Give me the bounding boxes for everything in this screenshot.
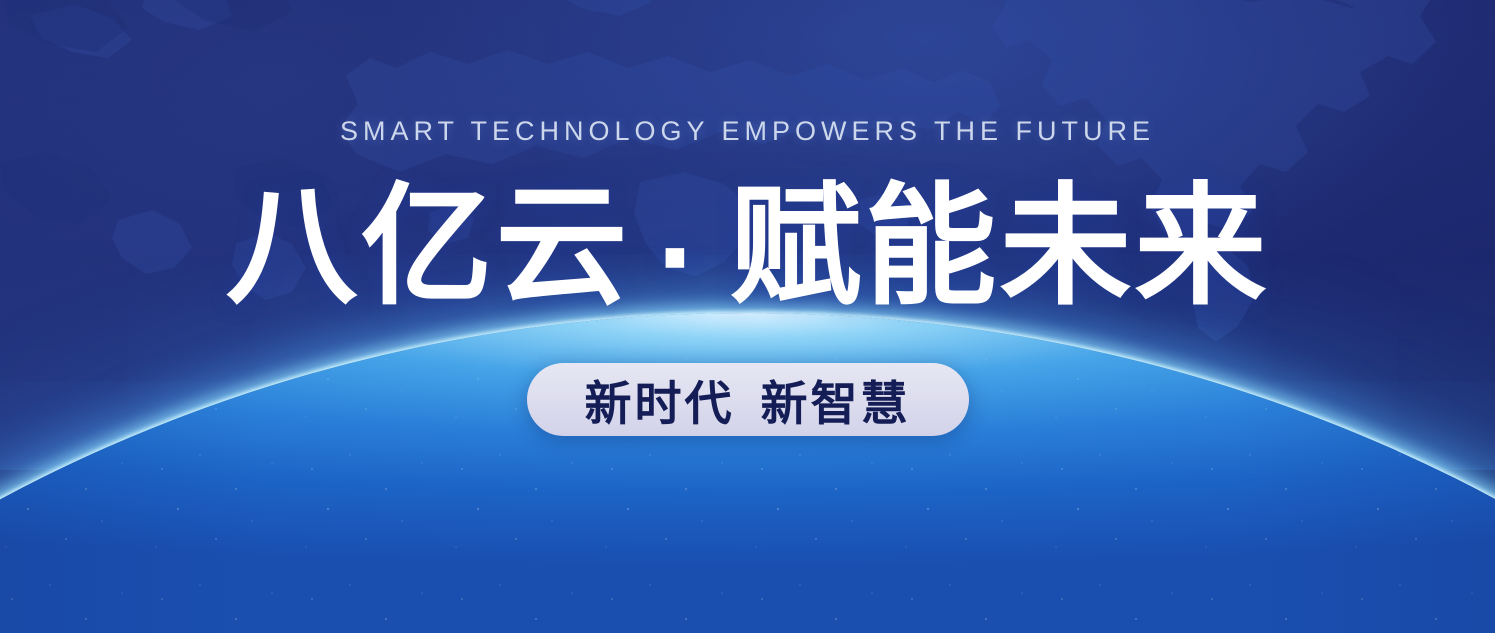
slogan-right: 新智慧: [761, 377, 911, 430]
hero-banner: SMART TECHNOLOGY EMPOWERS THE FUTURE 八亿云…: [0, 0, 1495, 633]
page-title: 八亿云·赋能未来: [226, 177, 1270, 327]
headline-left: 八亿云: [226, 173, 631, 320]
slogan-badge: 新时代新智慧: [527, 363, 969, 436]
banner-content: SMART TECHNOLOGY EMPOWERS THE FUTURE 八亿云…: [0, 0, 1495, 633]
headline-separator-dot: ·: [657, 187, 704, 327]
headline-right: 赋能未来: [729, 173, 1269, 320]
slogan-left: 新时代: [585, 377, 735, 430]
tagline: SMART TECHNOLOGY EMPOWERS THE FUTURE: [340, 116, 1155, 147]
slogan-badge-text: 新时代新智慧: [585, 365, 911, 434]
